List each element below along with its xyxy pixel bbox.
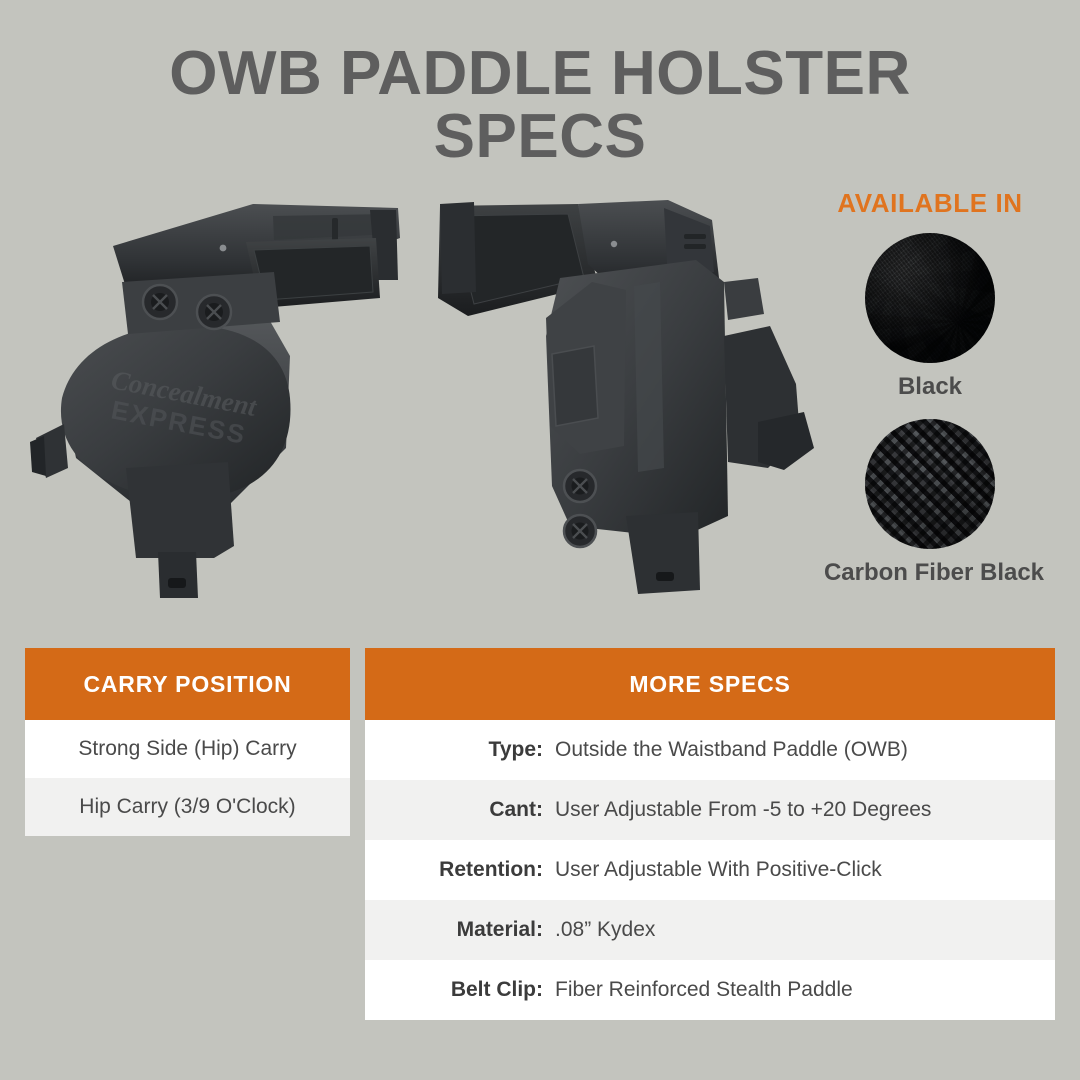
page-title: OWB PADDLE HOLSTER SPECS [0,42,1080,168]
screw-icon [564,515,596,547]
carry-position-header: CARRY POSITION [25,648,350,720]
screw-icon [143,285,177,319]
spec-label: Belt Clip: [365,978,555,1002]
spec-value: User Adjustable With Positive-Click [555,858,1055,882]
screw-icon [564,470,596,502]
table-row: Material: .08” Kydex [365,900,1055,960]
spec-label: Cant: [365,798,555,822]
table-row: Strong Side (Hip) Carry [25,720,350,778]
carbon-fiber-swatch[interactable] [865,419,995,549]
table-row: Hip Carry (3/9 O'Clock) [25,778,350,836]
available-in-heading: AVAILABLE IN [790,188,1070,219]
spec-label: Type: [365,738,555,762]
color-option-black[interactable]: Black [790,233,1070,401]
color-option-label: Carbon Fiber Black [794,559,1074,587]
spec-value: Fiber Reinforced Stealth Paddle [555,978,1055,1002]
table-row: Belt Clip: Fiber Reinforced Stealth Padd… [365,960,1055,1020]
spec-value: User Adjustable From -5 to +20 Degrees [555,798,1055,822]
spec-value: Outside the Waistband Paddle (OWB) [555,738,1055,762]
spec-label: Retention: [365,858,555,882]
page-title-line-1: OWB PADDLE HOLSTER [0,42,1080,105]
carry-position-table: CARRY POSITION Strong Side (Hip) Carry H… [25,648,350,836]
product-image-group: Concealment EXPRESS [0,186,800,636]
color-option-carbon-fiber[interactable]: Carbon Fiber Black [790,419,1070,587]
spec-value: .08” Kydex [555,918,1055,942]
spec-label: Material: [365,918,555,942]
screw-icon [197,295,231,329]
color-option-label: Black [790,373,1070,401]
table-row: Type: Outside the Waistband Paddle (OWB) [365,720,1055,780]
table-row: Retention: User Adjustable With Positive… [365,840,1055,900]
holster-side-view-image [428,186,828,626]
more-specs-table: MORE SPECS Type: Outside the Waistband P… [365,648,1055,1020]
page-title-line-2: SPECS [0,105,1080,168]
table-row: Cant: User Adjustable From -5 to +20 Deg… [365,780,1055,840]
black-texture-swatch[interactable] [865,233,995,363]
holster-front-view-image: Concealment EXPRESS [18,186,418,626]
more-specs-header: MORE SPECS [365,648,1055,720]
available-in-section: AVAILABLE IN Black Carbon Fiber Black [790,188,1070,591]
